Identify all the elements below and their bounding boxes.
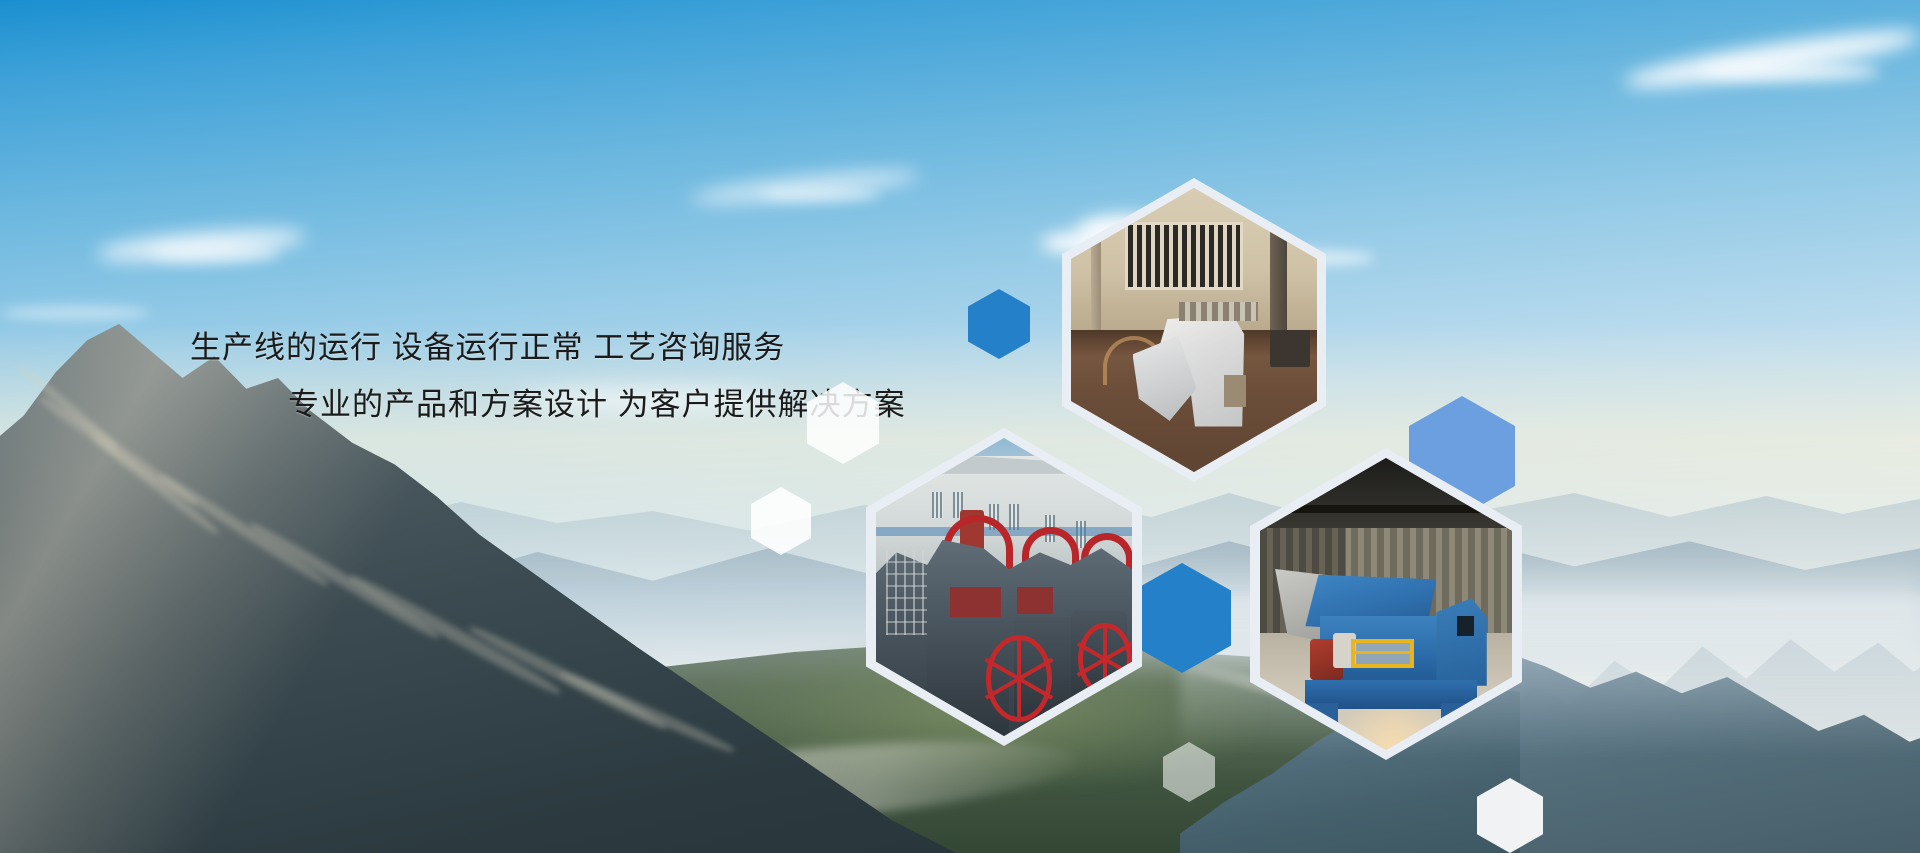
hex-photo-bottom-right-image (1260, 458, 1512, 750)
machine-flange (1179, 302, 1258, 322)
cloud (0, 306, 150, 320)
factory-window (932, 492, 942, 519)
factory-window (1009, 504, 1019, 531)
blue-machine-cabinet (1436, 598, 1486, 686)
cloud (760, 188, 880, 202)
red-panel (950, 587, 1001, 617)
hex-photo-top-image (1071, 188, 1317, 472)
roof-truss (1260, 505, 1512, 514)
dark-crate (1270, 330, 1309, 367)
yellow-guard-bar (1351, 651, 1414, 654)
machine-control-box (1224, 375, 1246, 406)
headline-block: 生产线的运行 设备运行正常 工艺咨询服务 专业的产品和方案设计 为客户提供解决方… (0, 332, 1040, 420)
cabinet-window (1457, 616, 1475, 636)
hex-photo-bottom-left-image (876, 438, 1132, 736)
cloud (1700, 62, 1880, 82)
headline-line-2: 专业的产品和方案设计 为客户提供解决方案 (288, 389, 1040, 420)
cloud (150, 244, 280, 262)
barred-window (1125, 222, 1243, 290)
red-handwheel (986, 635, 1052, 722)
headline-line-1: 生产线的运行 设备运行正常 工艺咨询服务 (190, 332, 1040, 363)
red-panel (1017, 587, 1053, 614)
machine-scaffold (886, 551, 927, 634)
hero-banner: 生产线的运行 设备运行正常 工艺咨询服务 专业的产品和方案设计 为客户提供解决方… (0, 0, 1920, 853)
